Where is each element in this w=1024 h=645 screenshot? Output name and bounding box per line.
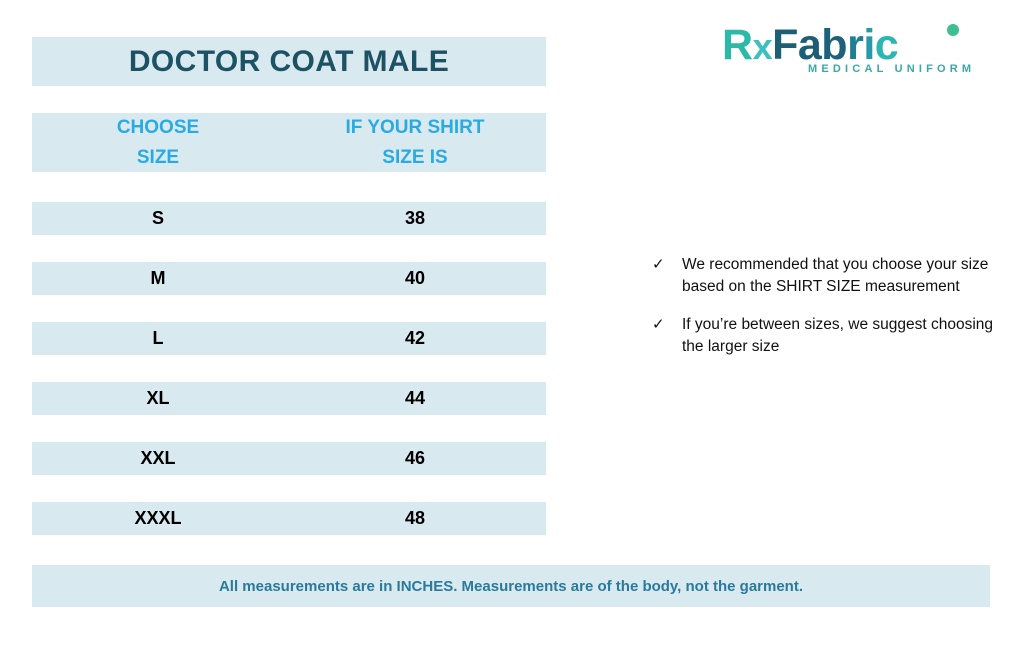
table-row: L 42 [32, 322, 546, 355]
column-header-shirt-size: IF YOUR SHIRT SIZE IS [284, 113, 546, 172]
table-header-row: CHOOSE SIZE IF YOUR SHIRT SIZE IS [32, 113, 546, 172]
logo-letter-f: F [772, 21, 798, 69]
cell-size: XXXL [32, 508, 284, 529]
list-item: ✓ We recommended that you choose your si… [652, 254, 1002, 298]
cell-shirt-size: 40 [284, 268, 546, 289]
table-row: M 40 [32, 262, 546, 295]
table-row: XL 44 [32, 382, 546, 415]
chart-title-band: DOCTOR COAT MALE [32, 37, 546, 86]
logo-letter-x: x [753, 26, 773, 67]
column-header-choose-size-line1: CHOOSE [32, 113, 284, 142]
logo-letter-c: c [875, 21, 898, 69]
list-item: ✓ If you’re between sizes, we suggest ch… [652, 314, 1002, 358]
cell-shirt-size: 44 [284, 388, 546, 409]
cell-shirt-size: 46 [284, 448, 546, 469]
table-row: S 38 [32, 202, 546, 235]
logo-dot-icon [947, 24, 959, 36]
column-header-choose-size: CHOOSE SIZE [32, 113, 284, 172]
cell-shirt-size: 48 [284, 508, 546, 529]
column-header-choose-size-line2: SIZE [32, 143, 284, 172]
size-chart-page: DOCTOR COAT MALE CHOOSE SIZE IF YOUR SHI… [0, 0, 1024, 645]
note-text: We recommended that you choose your size… [682, 254, 1002, 298]
column-header-shirt-size-line1: IF YOUR SHIRT [284, 113, 546, 142]
table-row: XXL 46 [32, 442, 546, 475]
cell-size: S [32, 208, 284, 229]
logo-letter-r: R [722, 21, 753, 69]
note-text: If you’re between sizes, we suggest choo… [682, 314, 1002, 358]
cell-size: M [32, 268, 284, 289]
cell-shirt-size: 38 [284, 208, 546, 229]
cell-size: XL [32, 388, 284, 409]
cell-size: XXL [32, 448, 284, 469]
brand-logo-tagline: MEDICAL UNIFORM [808, 63, 975, 75]
measurement-note-band: All measurements are in INCHES. Measurem… [32, 565, 990, 607]
logo-letter-b: b [821, 21, 847, 69]
logo-letter-i: i [863, 21, 874, 69]
measurement-note-text: All measurements are in INCHES. Measurem… [219, 578, 803, 595]
logo-letter-a: a [798, 21, 821, 69]
table-row: XXXL 48 [32, 502, 546, 535]
page-title: DOCTOR COAT MALE [129, 45, 449, 78]
brand-logo: RxFabric MEDICAL UNIFORM [722, 22, 994, 80]
logo-letter-r2: r [847, 21, 863, 69]
cell-shirt-size: 42 [284, 328, 546, 349]
recommendation-notes: ✓ We recommended that you choose your si… [652, 254, 1002, 374]
checkmark-icon: ✓ [652, 314, 682, 336]
checkmark-icon: ✓ [652, 254, 682, 276]
cell-size: L [32, 328, 284, 349]
column-header-shirt-size-line2: SIZE IS [284, 143, 546, 172]
